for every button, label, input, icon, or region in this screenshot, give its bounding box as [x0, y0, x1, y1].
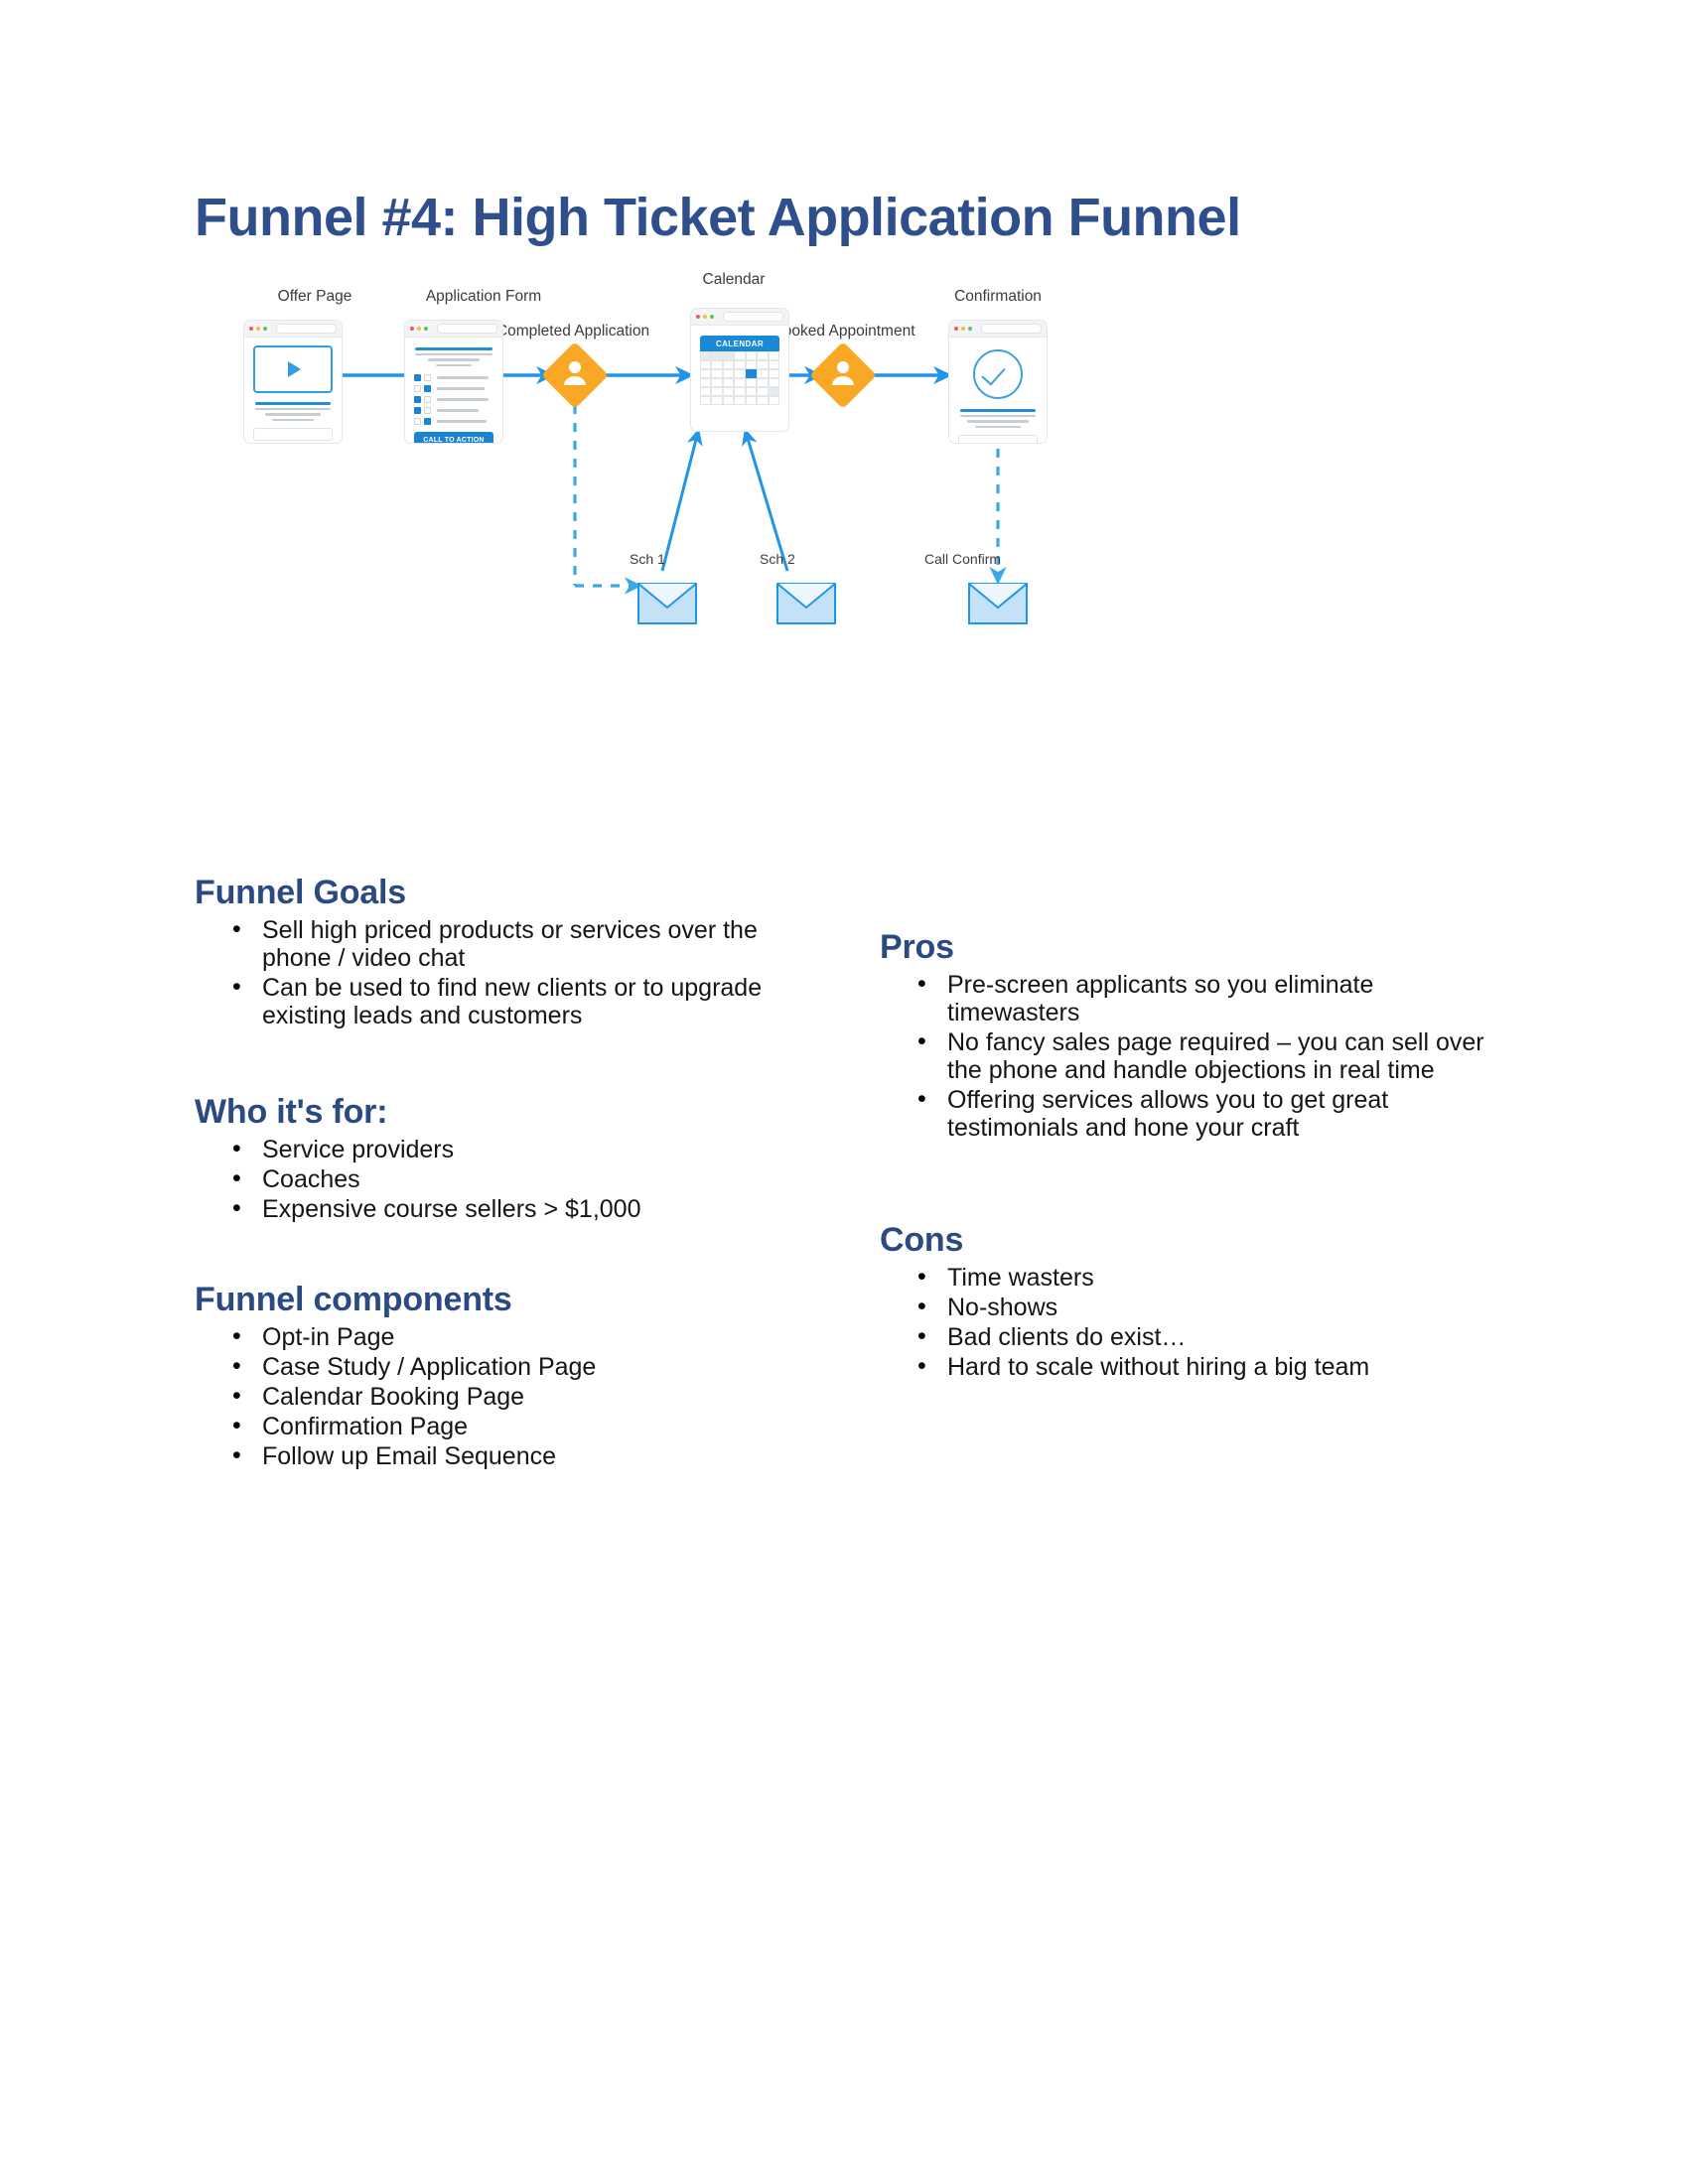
- page-title: Funnel #4: High Ticket Application Funne…: [195, 187, 1241, 248]
- heading-pros: Pros: [880, 928, 1495, 967]
- list-item: Opt-in Page: [195, 1323, 790, 1351]
- label-calendar: Calendar: [634, 271, 833, 289]
- heading-funnel-goals: Funnel Goals: [195, 874, 790, 912]
- arrow-sch2-to-calendar: [746, 432, 787, 571]
- label-confirmation: Confirmation: [899, 288, 1097, 306]
- right-content-column: Pros Pre-screen applicants so you elimin…: [880, 928, 1495, 1383]
- email-icon-call-confirm: [969, 584, 1027, 623]
- mockup-calendar: CALENDAR: [690, 308, 789, 432]
- list-item: Bad clients do exist…: [880, 1323, 1495, 1351]
- list-item: No fancy sales page required – you can s…: [880, 1028, 1495, 1084]
- list-item: Pre-screen applicants so you eliminate t…: [880, 971, 1495, 1026]
- window-close-dot: [249, 327, 253, 331]
- window-close-dot: [696, 315, 700, 319]
- list-item: Sell high priced products or services ov…: [195, 916, 790, 972]
- window-minimize-dot: [417, 327, 421, 331]
- heading-who-its-for: Who it's for:: [195, 1093, 790, 1132]
- list-pros: Pre-screen applicants so you eliminate t…: [880, 971, 1495, 1142]
- window-close-dot: [410, 327, 414, 331]
- list-who-its-for: Service providers Coaches Expensive cour…: [195, 1136, 790, 1223]
- mockup-confirmation: CALL TO ACTION: [948, 320, 1048, 444]
- list-item: Case Study / Application Page: [195, 1353, 790, 1381]
- window-minimize-dot: [256, 327, 260, 331]
- list-item: Offering services allows you to get grea…: [880, 1086, 1495, 1142]
- form-input-1: [958, 435, 1038, 444]
- label-sch1: Sch 1: [630, 551, 665, 567]
- cta-button-application: CALL TO ACTION: [414, 432, 493, 444]
- mockup-application-form: CALL TO ACTION: [404, 320, 503, 444]
- left-content-column: Funnel Goals Sell high priced products o…: [195, 874, 790, 1472]
- list-item: No-shows: [880, 1294, 1495, 1321]
- list-item: Follow up Email Sequence: [195, 1442, 790, 1470]
- check-circle-icon: [973, 349, 1023, 399]
- list-item: Confirmation Page: [195, 1413, 790, 1440]
- email-icon-sch2: [777, 584, 835, 623]
- form-input-1: [253, 428, 333, 441]
- list-funnel-goals: Sell high priced products or services ov…: [195, 916, 790, 1029]
- heading-cons: Cons: [880, 1221, 1495, 1260]
- list-item: Calendar Booking Page: [195, 1383, 790, 1411]
- decision-booked-appointment-icon: [809, 341, 877, 409]
- window-minimize-dot: [703, 315, 707, 319]
- window-maximize-dot: [424, 327, 428, 331]
- list-item: Can be used to find new clients or to up…: [195, 974, 790, 1029]
- mockup-browser-bar: [949, 321, 1047, 338]
- video-placeholder: [253, 345, 333, 393]
- label-application-form: Application Form: [384, 288, 583, 306]
- mockup-browser-bar: [405, 321, 502, 338]
- calendar-selected-day: [746, 369, 757, 378]
- window-maximize-dot: [968, 327, 972, 331]
- list-item: Expensive course sellers > $1,000: [195, 1195, 790, 1223]
- list-item: Coaches: [195, 1165, 790, 1193]
- play-icon: [288, 361, 301, 377]
- window-close-dot: [954, 327, 958, 331]
- mockup-url-bar: [981, 324, 1042, 334]
- email-icon-sch1: [638, 584, 696, 623]
- arrow-sch1-to-calendar: [662, 432, 698, 571]
- mockup-browser-bar: [244, 321, 342, 338]
- mockup-url-bar: [276, 324, 337, 334]
- label-call-confirm: Call Confirm: [924, 551, 1001, 567]
- funnel-diagram: Offer Page Application Form Completed Ap…: [253, 298, 1425, 745]
- heading-funnel-components: Funnel components: [195, 1281, 790, 1319]
- calendar-header: CALENDAR: [700, 336, 779, 351]
- decision-completed-application-icon: [541, 341, 609, 409]
- mockup-url-bar: [437, 324, 497, 334]
- label-sch2: Sch 2: [760, 551, 795, 567]
- label-completed-application: Completed Application: [474, 323, 672, 341]
- list-item: Time wasters: [880, 1264, 1495, 1292]
- list-cons: Time wasters No-shows Bad clients do exi…: [880, 1264, 1495, 1381]
- list-item: Hard to scale without hiring a big team: [880, 1353, 1495, 1381]
- mockup-offer-page: CALL TO ACTION: [243, 320, 343, 444]
- window-maximize-dot: [710, 315, 714, 319]
- list-funnel-components: Opt-in Page Case Study / Application Pag…: [195, 1323, 790, 1470]
- list-item: Service providers: [195, 1136, 790, 1163]
- window-maximize-dot: [263, 327, 267, 331]
- mockup-url-bar: [723, 312, 783, 322]
- document-page: Funnel #4: High Ticket Application Funne…: [0, 0, 1688, 2184]
- calendar-grid: [700, 351, 779, 405]
- mockup-browser-bar: [691, 309, 788, 326]
- window-minimize-dot: [961, 327, 965, 331]
